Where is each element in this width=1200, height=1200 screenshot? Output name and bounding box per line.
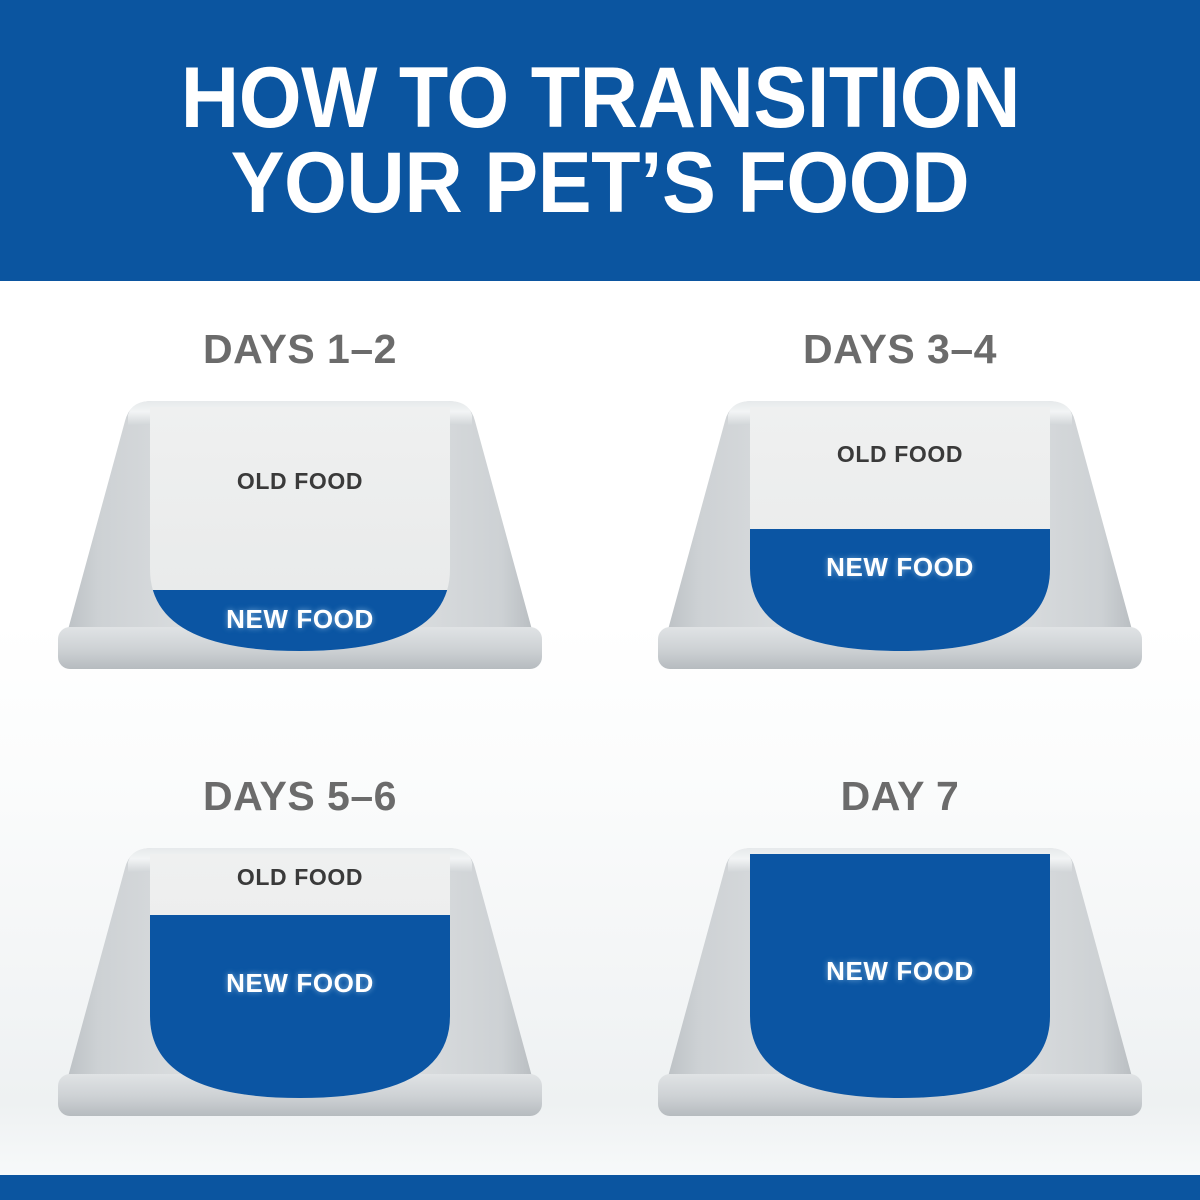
header-banner: HOW TO TRANSITION YOUR PET’S FOOD bbox=[0, 0, 1200, 281]
bowl-svg bbox=[50, 389, 550, 689]
step-card-day-7: DAY 7 bbox=[600, 728, 1200, 1175]
bowl-svg bbox=[650, 836, 1150, 1136]
step-title: DAYS 3–4 bbox=[600, 326, 1200, 373]
bowl-contents bbox=[745, 850, 1055, 1108]
bowl-svg bbox=[50, 836, 550, 1136]
bowl-contents bbox=[145, 854, 455, 1107]
footer-band bbox=[0, 1175, 1200, 1200]
bowl-graphic: OLD FOOD NEW FOOD bbox=[650, 389, 1150, 689]
bowl-contents bbox=[745, 407, 1055, 660]
steps-grid: DAYS 1–2 bbox=[0, 281, 1200, 1175]
infographic-page: HOW TO TRANSITION YOUR PET’S FOOD DAYS 1… bbox=[0, 0, 1200, 1200]
bowl-svg bbox=[650, 389, 1150, 689]
new-food-fill bbox=[745, 850, 1055, 1108]
step-title: DAY 7 bbox=[600, 773, 1200, 820]
bowl-graphic: NEW FOOD bbox=[650, 836, 1150, 1136]
page-title-line-2: YOUR PET’S FOOD bbox=[231, 141, 970, 225]
step-card-days-1-2: DAYS 1–2 bbox=[0, 281, 600, 728]
step-title: DAYS 1–2 bbox=[0, 326, 600, 373]
new-food-fill bbox=[145, 915, 455, 1107]
bowl-graphic: OLD FOOD NEW FOOD bbox=[50, 389, 550, 689]
bowl-graphic: OLD FOOD NEW FOOD bbox=[50, 836, 550, 1136]
bowl-contents bbox=[145, 407, 455, 660]
step-card-days-3-4: DAYS 3–4 bbox=[600, 281, 1200, 728]
page-title-line-1: HOW TO TRANSITION bbox=[180, 56, 1019, 140]
step-title: DAYS 5–6 bbox=[0, 773, 600, 820]
step-card-days-5-6: DAYS 5–6 bbox=[0, 728, 600, 1175]
